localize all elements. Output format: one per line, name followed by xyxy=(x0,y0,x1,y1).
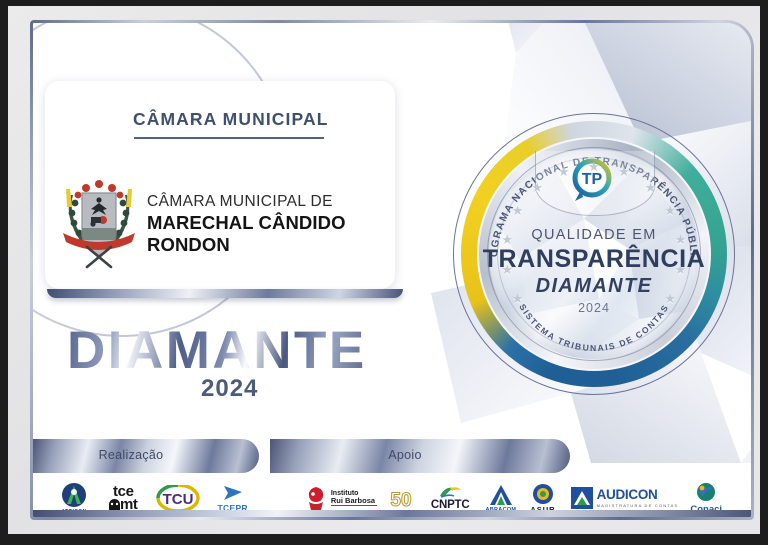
logo-irb: Instituto Rui Barbosa xyxy=(304,485,377,511)
certificate-canvas: CÂMARA MUNICIPAL xyxy=(33,23,751,517)
asur-logo-icon xyxy=(532,483,554,505)
logo-abracom: ABRACOM xyxy=(485,483,516,514)
metallic-frame: CÂMARA MUNICIPAL xyxy=(30,20,754,520)
realizacao-label: Realização xyxy=(33,448,229,462)
fifty-years-icon: 50 xyxy=(385,485,417,511)
seal-star-arc: ★★★★★★★★★★★★★ xyxy=(461,121,727,387)
award-headline: DIAMANTE xyxy=(67,320,367,381)
seal-star-icon: ★ xyxy=(675,263,687,276)
tcepr-logo-icon xyxy=(221,483,245,503)
coat-of-arms-icon xyxy=(57,173,141,269)
logo-tcu: TCU xyxy=(154,485,202,511)
logo-tcepr: TCEPR xyxy=(218,483,248,513)
conaci-logo-icon xyxy=(694,482,718,504)
logo-tcu-text: TCU xyxy=(162,491,193,508)
seal-star-icon: ★ xyxy=(645,181,657,194)
card-divider xyxy=(134,137,324,139)
seal-star-icon: ★ xyxy=(675,233,687,246)
apoio-bar: Apoio xyxy=(270,439,570,473)
realizacao-bar: Realização xyxy=(33,439,259,473)
logo-fifty-years: 50 xyxy=(385,485,417,511)
seal-star-icon: ★ xyxy=(512,204,524,217)
logo-cnptc: CNPTC xyxy=(431,485,470,512)
seal-star-icon: ★ xyxy=(501,233,513,246)
bottom-metal-bar xyxy=(33,510,751,517)
certificate-plate: CÂMARA MUNICIPAL xyxy=(8,6,760,534)
tce-mt-arch-icon xyxy=(109,499,120,510)
seal-star-icon: ★ xyxy=(664,204,676,217)
audicon-logo-icon xyxy=(570,486,594,510)
seal-star-icon: ★ xyxy=(531,181,543,194)
transparency-seal: PROGRAMA NACIONAL DE TRANSPARÊNCIA PÚBLI… xyxy=(461,121,727,387)
seal-star-icon: ★ xyxy=(501,263,513,276)
atricon-logo-icon xyxy=(61,482,87,508)
abracom-logo-icon xyxy=(488,483,514,507)
seal-star-icon: ★ xyxy=(588,160,600,173)
apoio-label: Apoio xyxy=(270,448,540,462)
logo-audicon: AUDICON MAGISTRATURA DE CONTAS xyxy=(570,486,679,510)
logo-asur: ASUR xyxy=(530,483,555,514)
seal-star-icon: ★ xyxy=(618,165,630,178)
logo-audicon-subtitle: MAGISTRATURA DE CONTAS xyxy=(597,503,679,508)
seal-star-icon: ★ xyxy=(558,165,570,178)
logo-fifty-text: 50 xyxy=(390,490,411,511)
organization-line-1: CÂMARA MUNICIPAL DE xyxy=(147,193,333,211)
cnptc-logo-icon xyxy=(436,485,464,499)
award-headline-year: 2024 xyxy=(201,375,258,403)
card-metal-bar xyxy=(47,289,403,298)
seal-star-icon: ★ xyxy=(512,292,524,305)
logo-audicon-text: AUDICON xyxy=(597,488,679,502)
tcu-logo-icon: TCU xyxy=(154,485,202,511)
logo-tce-mt: tce mt xyxy=(109,484,138,512)
card-eyebrow-title: CÂMARA MUNICIPAL xyxy=(133,109,329,130)
organization-card: CÂMARA MUNICIPAL xyxy=(45,81,395,289)
logo-irb-text-2: Rui Barbosa xyxy=(331,497,377,505)
seal-star-icon: ★ xyxy=(664,292,676,305)
certificate-stage: CÂMARA MUNICIPAL xyxy=(0,0,768,545)
organization-line-2: MARECHAL CÂNDIDO RONDON xyxy=(147,212,395,256)
irb-logo-icon xyxy=(304,485,328,511)
